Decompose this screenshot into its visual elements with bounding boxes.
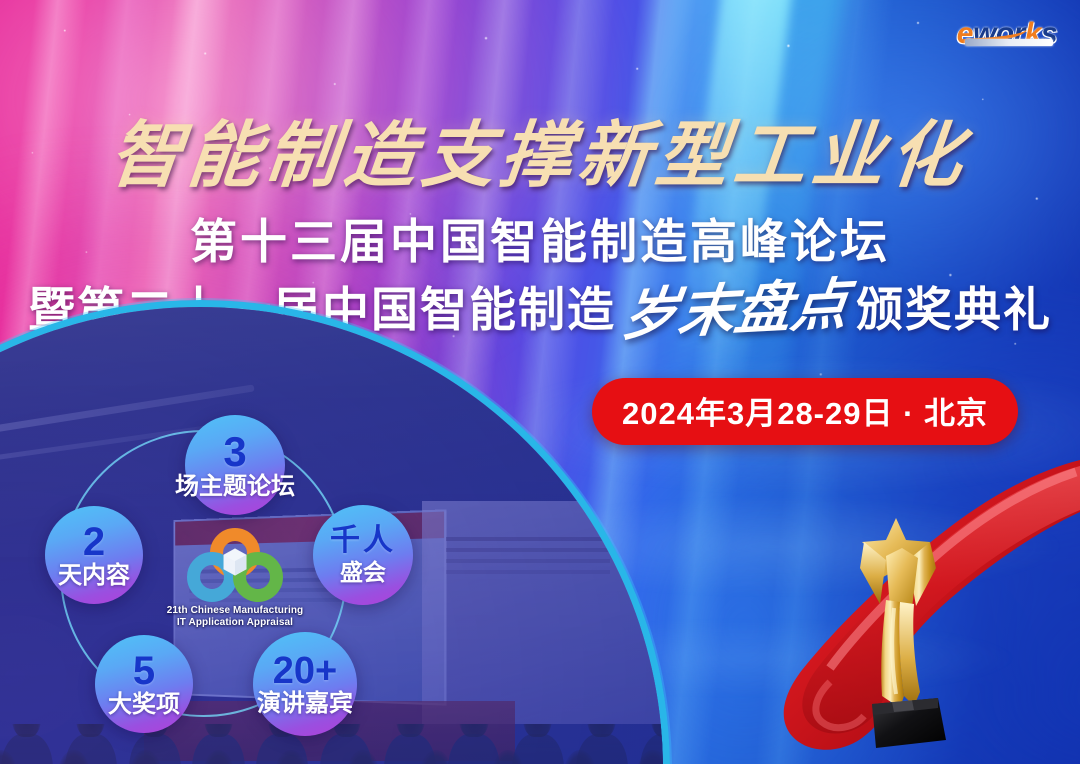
stat-number: 千人 bbox=[330, 526, 396, 556]
appraisal-logo-line-1: 21th Chinese Manufacturing bbox=[167, 605, 304, 617]
stat-label: 天内容 bbox=[58, 564, 130, 588]
stat-number: 5 bbox=[133, 651, 155, 691]
poster-canvas: eworks 智能制造支撑新型工业化 第十三届中国智能制造高峰论坛 暨第二十一届… bbox=[0, 0, 1080, 764]
stat-label: 盛会 bbox=[340, 561, 386, 584]
appraisal-logo: 21th Chinese Manufacturing IT Applicatio… bbox=[164, 528, 306, 640]
gold-trophy-icon bbox=[842, 512, 962, 750]
stat-bubble-forums[interactable]: 3 场主题论坛 bbox=[185, 415, 285, 515]
stat-number: 2 bbox=[83, 522, 105, 562]
appraisal-logo-line-2: IT Application Appraisal bbox=[167, 617, 304, 629]
stat-number: 3 bbox=[223, 431, 246, 473]
stat-bubble-speakers[interactable]: 20+ 演讲嘉宾 bbox=[253, 632, 357, 736]
eworks-logo[interactable]: eworks bbox=[948, 12, 1066, 56]
stat-label: 大奖项 bbox=[108, 693, 180, 717]
appraisal-rings-icon bbox=[187, 528, 283, 602]
stat-number: 20+ bbox=[273, 652, 337, 690]
appraisal-logo-text: 21th Chinese Manufacturing IT Applicatio… bbox=[167, 605, 304, 629]
stat-bubble-attendees[interactable]: 千人 盛会 bbox=[313, 505, 413, 605]
eworks-logo-wordmark: eworks bbox=[957, 19, 1057, 49]
page-title: 智能制造支撑新型工业化 bbox=[0, 96, 1080, 201]
stat-bubble-awards[interactable]: 5 大奖项 bbox=[95, 635, 193, 733]
subtitle-line-2-suffix: 颁奖典礼 bbox=[856, 271, 1052, 340]
stat-label: 场主题论坛 bbox=[175, 475, 295, 499]
stat-bubble-days[interactable]: 2 天内容 bbox=[45, 506, 143, 604]
award-trophy-graphic bbox=[770, 420, 1080, 764]
stat-label: 演讲嘉宾 bbox=[257, 692, 353, 716]
eworks-logo-bar-icon bbox=[965, 39, 1053, 46]
appraisal-cube-icon bbox=[221, 548, 249, 578]
